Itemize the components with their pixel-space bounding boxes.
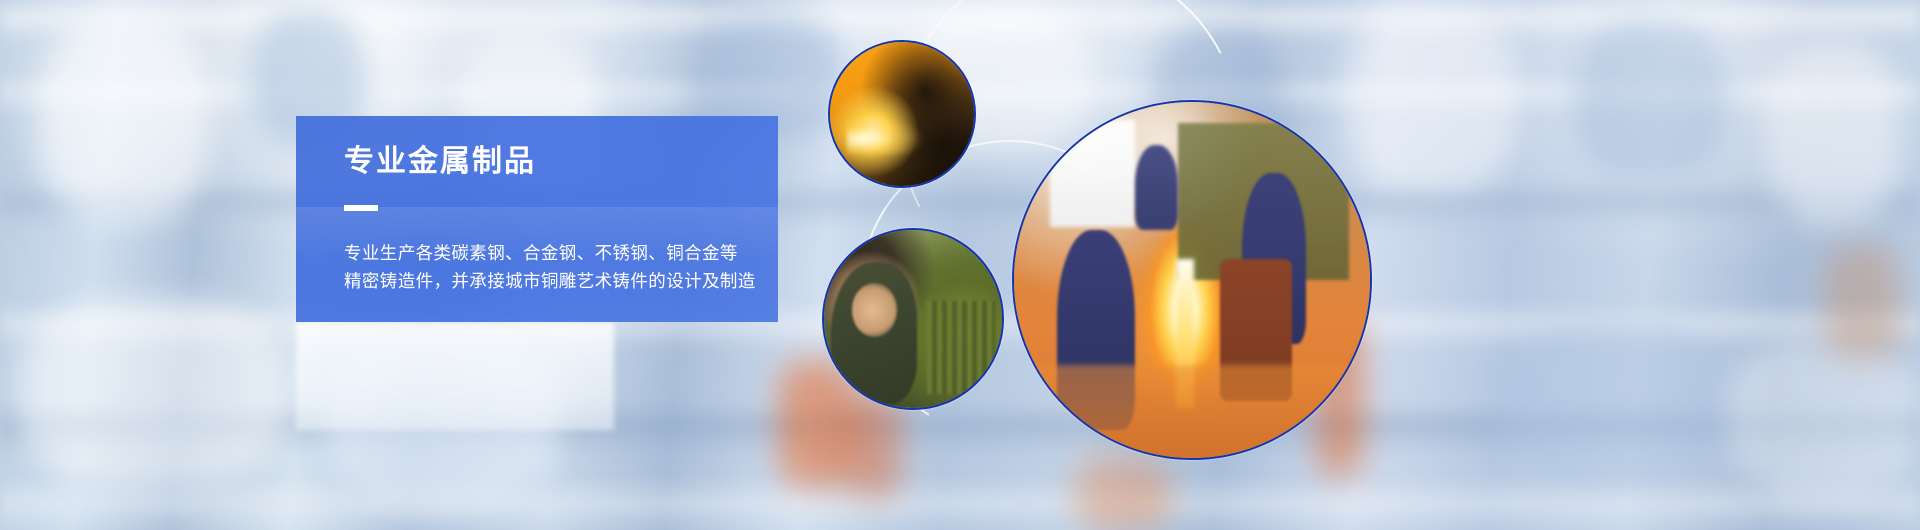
photo-circle-foundry-pour: foundry workers pouring molten metal, br… <box>1012 100 1372 460</box>
foundry-worker-background <box>1135 145 1178 230</box>
photo-circle-inspection-worker: female worker inspecting green metal cas… <box>822 228 1004 410</box>
panel-description-line-2: 精密铸造件，并承接城市铜雕艺术铸件的设计及制造 <box>344 267 778 295</box>
background-white-panel <box>296 322 614 430</box>
hero-banner: worker welding metal with sparks, golden… <box>0 0 1920 530</box>
panel-description: 专业生产各类碳素钢、合金钢、不锈钢、铜合金等 精密铸造件，并承接城市铜雕艺术铸件… <box>344 239 778 296</box>
inspect-castings-rack <box>927 301 995 394</box>
foundry-floor <box>1014 365 1370 458</box>
panel-headline: 专业金属制品 <box>344 144 778 180</box>
panel-description-line-1: 专业生产各类碳素钢、合金钢、不锈钢、铜合金等 <box>344 239 778 267</box>
promo-text-panel: 专业金属制品 专业生产各类碳素钢、合金钢、不锈钢、铜合金等 精密铸造件，并承接城… <box>296 116 778 322</box>
weld-spark-glow <box>847 117 922 154</box>
photo-circle-welding-worker: worker welding metal with sparks, golden… <box>828 40 976 188</box>
inspect-worker-face <box>852 283 897 336</box>
headline-divider <box>344 205 378 211</box>
foundry-window <box>1050 120 1135 227</box>
